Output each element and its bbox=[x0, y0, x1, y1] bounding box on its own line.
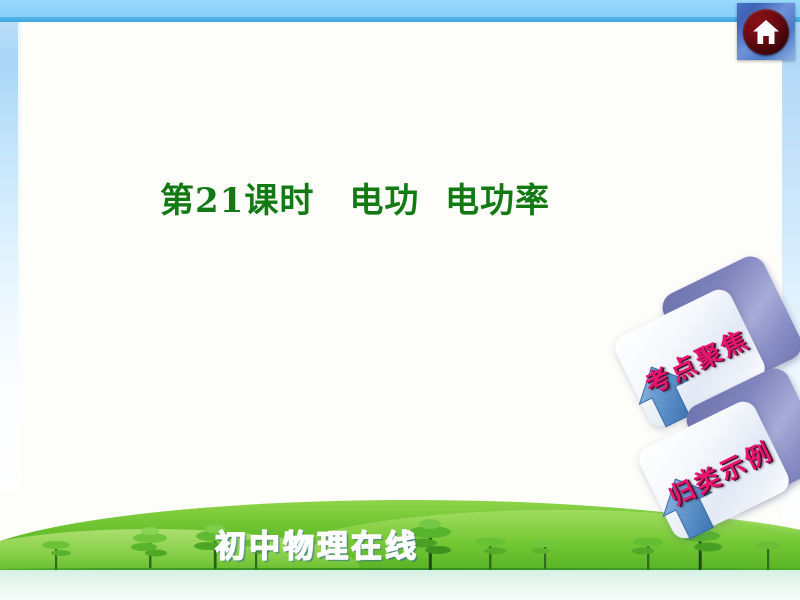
site-watermark: 初中物理在线 bbox=[215, 521, 419, 566]
left-border-strip bbox=[0, 22, 18, 492]
home-button[interactable] bbox=[737, 3, 795, 60]
left-inner-edge bbox=[18, 22, 21, 492]
nav-button-guilei-shili[interactable]: 归类示例 bbox=[656, 408, 800, 536]
slide-canvas: 第21课时 电功 电功率 bbox=[0, 0, 800, 600]
home-icon bbox=[743, 9, 789, 55]
page-title: 第21课时 电功 电功率 bbox=[160, 173, 680, 222]
top-band bbox=[0, 0, 800, 17]
nav-button-group: 考点聚焦 归类示例 bbox=[570, 270, 800, 600]
